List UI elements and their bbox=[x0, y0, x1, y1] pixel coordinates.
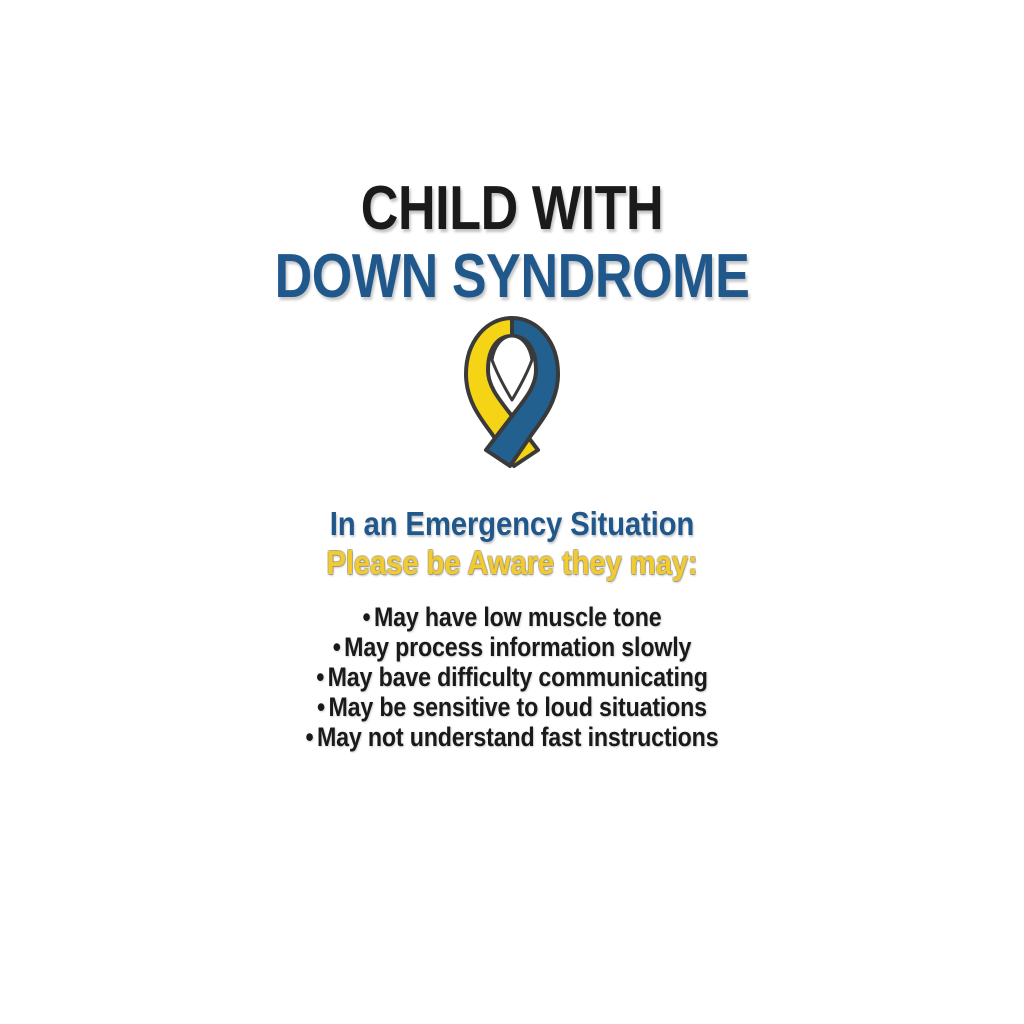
list-item-label: May bave difficulty communicating bbox=[328, 662, 708, 692]
list-item-label: May not understand fast instructions bbox=[317, 722, 718, 752]
please-be-aware-heading: Please be Aware they may: bbox=[56, 545, 967, 581]
poster-headline: CHILD WITH DOWN SYNDROME bbox=[0, 178, 1024, 308]
emergency-situation-heading: In an Emergency Situation bbox=[56, 506, 967, 542]
bullet-dot-icon: • bbox=[317, 692, 325, 722]
bullet-dot-icon: • bbox=[333, 632, 341, 662]
list-item: •May process information slowly bbox=[72, 632, 953, 662]
bullet-dot-icon: • bbox=[363, 602, 371, 632]
ribbon-loop-opening bbox=[492, 336, 532, 400]
list-item: •May not understand fast instructions bbox=[72, 722, 953, 752]
title-line-1: CHILD WITH bbox=[82, 178, 942, 240]
ribbon-graphic-container bbox=[0, 300, 1024, 490]
title-line-2: DOWN SYNDROME bbox=[82, 246, 942, 308]
list-item-label: May have low muscle tone bbox=[374, 602, 662, 632]
awareness-bullet-list: •May have low muscle tone •May process i… bbox=[0, 602, 1024, 752]
poster-subheadings: In an Emergency Situation Please be Awar… bbox=[0, 506, 1024, 581]
bullet-dot-icon: • bbox=[316, 662, 324, 692]
list-item: •May be sensitive to loud situations bbox=[72, 692, 953, 722]
bullet-dot-icon: • bbox=[306, 722, 314, 752]
list-item: •May bave difficulty communicating bbox=[72, 662, 953, 692]
poster-canvas: CHILD WITH DOWN SYNDROME In an Emergency… bbox=[0, 0, 1024, 1024]
list-item-label: May be sensitive to loud situations bbox=[328, 692, 706, 722]
list-item-label: May process information slowly bbox=[344, 632, 691, 662]
down-syndrome-awareness-ribbon-icon bbox=[452, 300, 572, 490]
list-item: •May have low muscle tone bbox=[72, 602, 953, 632]
